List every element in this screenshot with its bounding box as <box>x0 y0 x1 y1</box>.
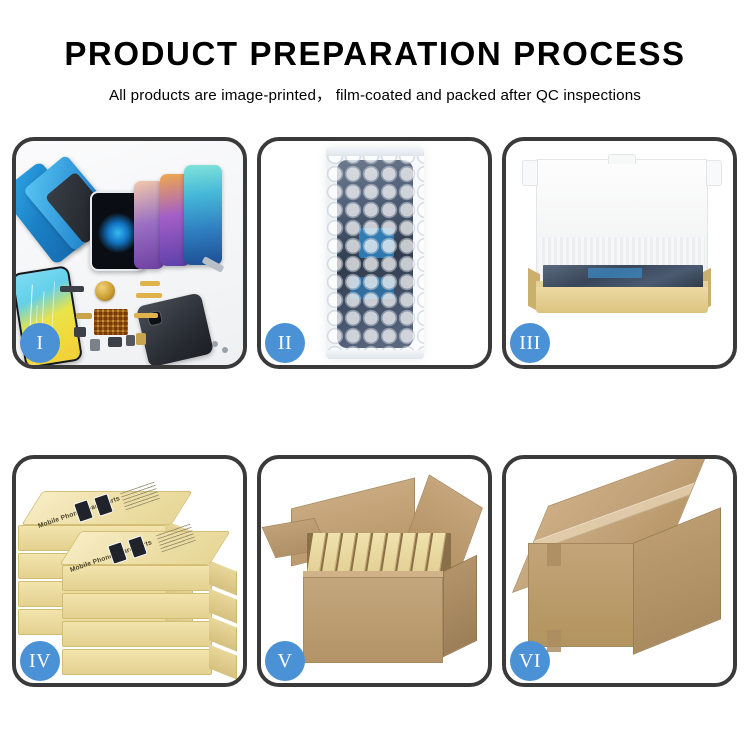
process-step-grid: I II <box>12 137 738 687</box>
packed-item-icon <box>543 265 703 288</box>
retail-box <box>62 649 212 675</box>
vibration-motor-icon <box>95 281 115 301</box>
flex-cable-icon <box>134 313 158 318</box>
small-part-icon <box>74 327 86 337</box>
connector-icon <box>76 313 92 319</box>
screw-icon <box>212 341 218 347</box>
step-4-image: Mobile Phone Spare Parts Mobile Phone Sp… <box>16 459 243 683</box>
step-6-image: VI <box>506 459 733 683</box>
small-part-icon <box>126 335 135 346</box>
carton-front-icon <box>303 577 443 663</box>
seal-edge-icon <box>326 350 424 359</box>
bubble-wrap-package <box>326 147 424 359</box>
chip-array-icon <box>94 309 128 335</box>
header: PRODUCT PREPARATION PROCESS All products… <box>0 0 750 105</box>
box-front-icon <box>536 287 708 313</box>
step-badge-2: II <box>265 323 305 363</box>
retail-box <box>62 621 212 647</box>
carton-side-icon <box>443 555 477 658</box>
phone-housing-icon <box>136 292 214 365</box>
bubble-texture-icon <box>326 147 424 359</box>
step-badge-3: III <box>510 323 550 363</box>
step-badge-1: I <box>20 323 60 363</box>
screw-icon <box>222 347 228 353</box>
small-part-icon <box>108 337 122 347</box>
step-badge-5: V <box>265 641 305 681</box>
product-preparation-infographic: PRODUCT PREPARATION PROCESS All products… <box>0 0 750 750</box>
process-step-panel-6: VI <box>502 455 737 687</box>
process-step-panel-1: I <box>12 137 247 369</box>
phone-teal-icon <box>184 165 222 265</box>
part-strip-icon <box>60 286 84 292</box>
page-subtitle: All products are image-printed， film-coa… <box>0 83 750 105</box>
step-1-image: I <box>16 141 243 365</box>
flex-cable-icon <box>140 281 160 286</box>
page-title: PRODUCT PREPARATION PROCESS <box>0 36 750 72</box>
step-3-image: III <box>506 141 733 365</box>
step-2-image: II <box>261 141 488 365</box>
process-step-panel-2: II <box>257 137 492 369</box>
seal-edge-icon <box>326 147 424 156</box>
small-part-icon <box>90 339 100 351</box>
small-part-icon <box>136 333 146 345</box>
process-step-panel-3: III <box>502 137 737 369</box>
step-badge-6: VI <box>510 641 550 681</box>
retail-box <box>62 593 212 619</box>
process-step-panel-4: Mobile Phone Spare Parts Mobile Phone Sp… <box>12 455 247 687</box>
process-step-panel-5: V <box>257 455 492 687</box>
step-5-image: V <box>261 459 488 683</box>
flex-cable-icon <box>136 293 162 298</box>
step-badge-4: IV <box>20 641 60 681</box>
carton-front-icon <box>528 543 634 647</box>
